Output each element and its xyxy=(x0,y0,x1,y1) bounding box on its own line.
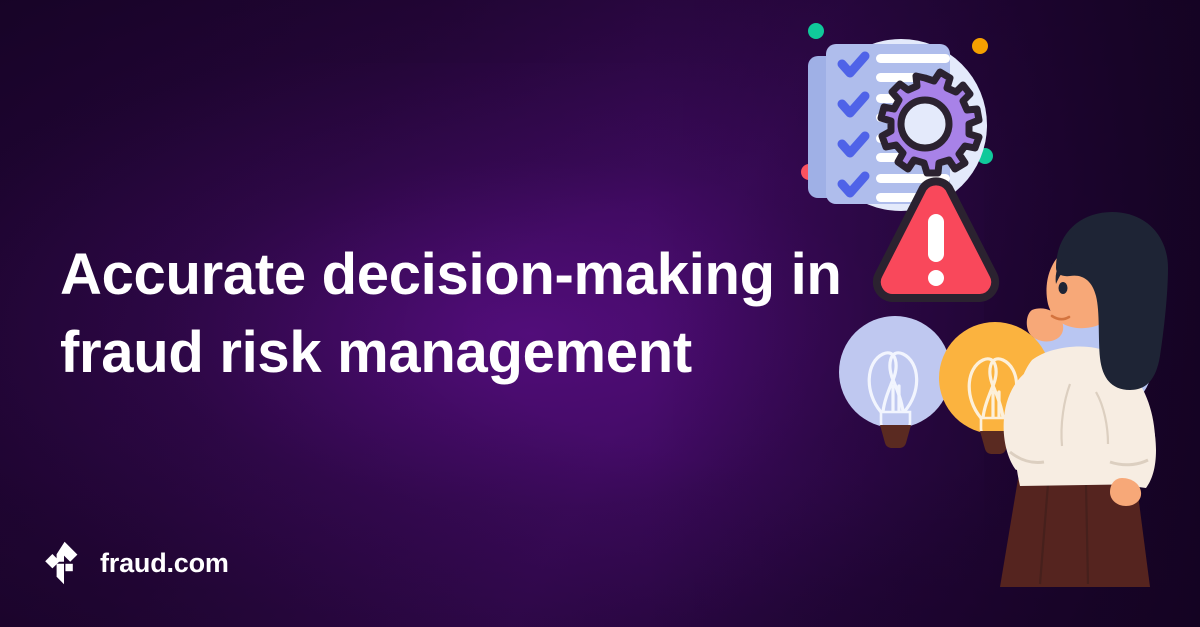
brand-logo-text: fraud.com xyxy=(100,550,229,577)
person-eye xyxy=(1059,282,1068,294)
brand-logo[interactable]: fraud.com xyxy=(44,541,229,585)
fraud-dot-com-mark-icon xyxy=(44,541,86,585)
headline-line-1: Accurate decision-making in xyxy=(60,236,800,314)
hero-illustration xyxy=(780,0,1200,627)
lightbulb-blue-base xyxy=(880,425,911,448)
person-thinking-illustration xyxy=(1000,212,1168,587)
dot-teal-top-left-icon xyxy=(808,23,824,39)
banner-root: Accurate decision-making in fraud risk m… xyxy=(0,0,1200,627)
headline-line-2: fraud risk management xyxy=(60,314,800,392)
warning-exclamation-bar xyxy=(928,214,944,262)
lightbulb-blue-icon xyxy=(839,316,951,448)
warning-exclamation-dot xyxy=(928,270,944,286)
dot-orange-top-right-icon xyxy=(972,38,988,54)
page-title: Accurate decision-making in fraud risk m… xyxy=(60,236,800,392)
